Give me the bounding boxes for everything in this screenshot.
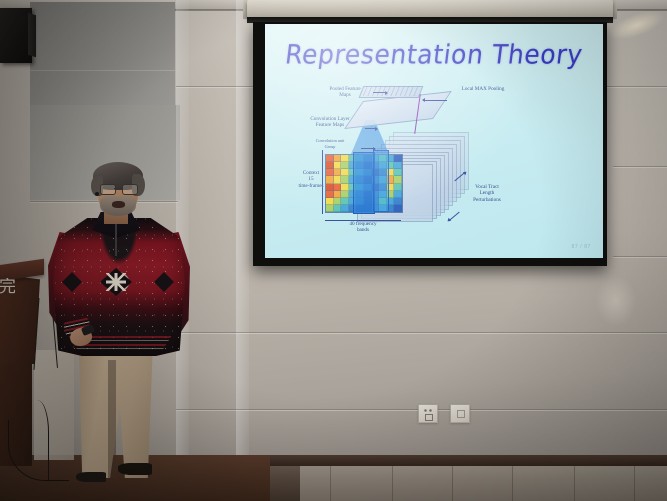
label-convolution-layer-feature-maps: Convolution Layer Feature Maps — [295, 116, 365, 129]
lecture-hall-photo: Redlent Representation Theory — [0, 0, 667, 501]
glasses-lens-left — [100, 184, 116, 195]
lectern-label: 完 — [0, 278, 15, 316]
headset-microphone-icon — [95, 192, 99, 196]
sweater-zipper — [115, 222, 117, 256]
blank-data-plate[interactable] — [450, 404, 470, 423]
outlet-holes-icon — [423, 408, 433, 413]
wall-light-sheen — [596, 276, 636, 326]
trouser-shadow — [108, 360, 116, 478]
glasses-lens-right — [122, 184, 138, 195]
presenter — [48, 160, 198, 501]
projected-slide: Representation Theory — [265, 24, 603, 258]
acoustic-panel-upper — [30, 2, 175, 105]
arrow-to-vtlp-bottom — [448, 212, 459, 222]
presenter-mouth — [112, 201, 125, 208]
wall-speaker-bracket — [28, 13, 36, 58]
arrow-to-local-max-pooling — [423, 100, 447, 101]
floor-cable-2 — [20, 400, 49, 480]
wall-seam-3 — [613, 256, 667, 257]
screen-housing: Redlent — [247, 0, 613, 18]
slide-page-indicator: 87 / 87 — [572, 244, 592, 250]
label-frequency-bands: 40 frequency bands — [335, 221, 391, 234]
blank-plate-icon — [457, 410, 465, 418]
cnn-architecture-diagram: Pooled Feature Maps Local MAX Pooling Co… — [265, 24, 603, 258]
convolution-unit-group-box — [353, 152, 375, 214]
presenter-shoe-right — [118, 463, 152, 475]
label-context-time-frames: Context 15 time-frames — [291, 170, 331, 189]
label-pooled-feature-maps: Pooled Feature Maps — [317, 86, 373, 99]
power-outlet-plate[interactable] — [418, 404, 438, 423]
wall-seam-2 — [613, 166, 667, 167]
outlet-slot-icon — [425, 414, 433, 421]
sweater-star-icon — [106, 273, 126, 291]
presenter-shoe-left — [76, 472, 106, 482]
arrow-to-conv-layer — [365, 128, 377, 129]
glasses-bridge — [114, 188, 122, 189]
label-local-max-pooling: Local MAX Pooling — [447, 86, 519, 92]
arrow-to-conv-unit-group — [361, 148, 375, 149]
label-vocal-tract-length-perturbations: Vocal Tract Length Perturbations — [461, 184, 513, 203]
glasses-icon — [100, 184, 137, 193]
arrow-to-pooled-maps — [373, 92, 387, 93]
convolution-unit-group-box-2 — [373, 150, 389, 212]
wall-pilaster-right — [236, 0, 249, 462]
label-convolution-unit-group: Convolution unit Group — [299, 138, 361, 151]
wall-seam-4 — [176, 332, 667, 333]
